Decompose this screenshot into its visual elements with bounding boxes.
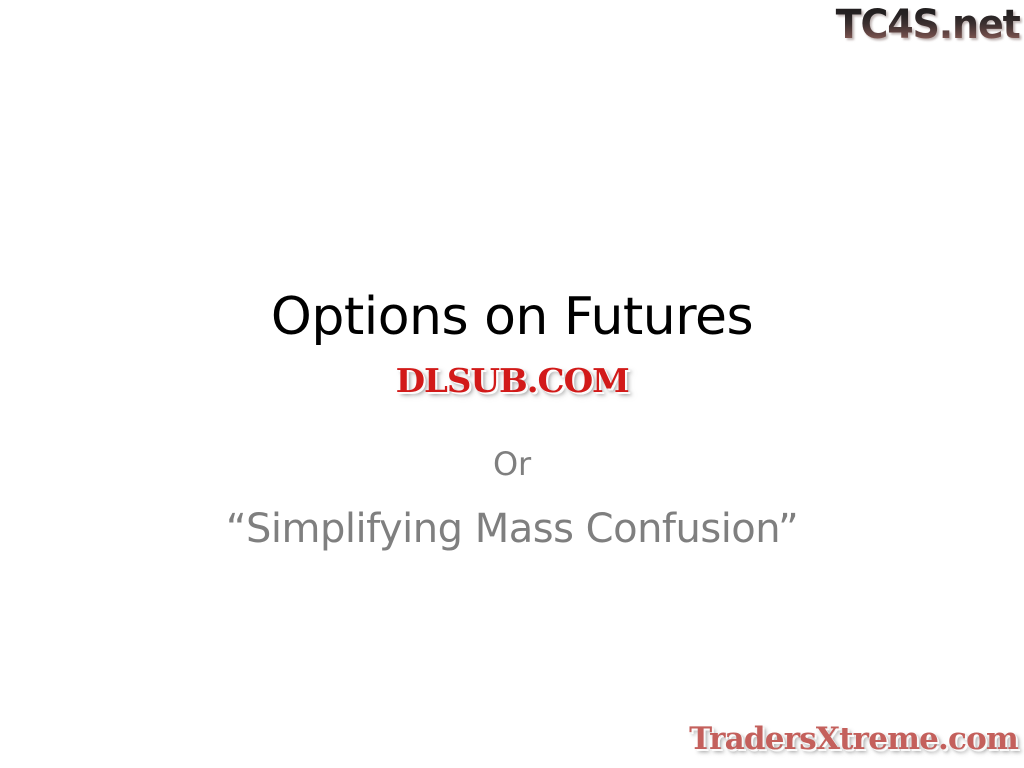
page-title: Options on Futures bbox=[0, 286, 1024, 348]
tradersxtreme-watermark: TradersXtreme.com bbox=[689, 720, 1018, 758]
title-block: Options on Futures bbox=[0, 286, 1024, 348]
tc4s-logo: TC4S.net bbox=[836, 2, 1020, 48]
presentation-slide: TC4S.net Options on Futures DLSUB.COM Or… bbox=[0, 0, 1024, 768]
subtitle-block: Or “Simplifying Mass Confusion” bbox=[0, 442, 1024, 556]
tradersxtreme-watermark-text: TradersXtreme.com bbox=[689, 720, 1018, 758]
subtitle-line-quote: “Simplifying Mass Confusion” bbox=[0, 502, 1024, 556]
dlsub-watermark-text: DLSUB.COM bbox=[395, 362, 628, 400]
dlsub-watermark: DLSUB.COM bbox=[0, 362, 1024, 400]
subtitle-line-or: Or bbox=[0, 442, 1024, 486]
